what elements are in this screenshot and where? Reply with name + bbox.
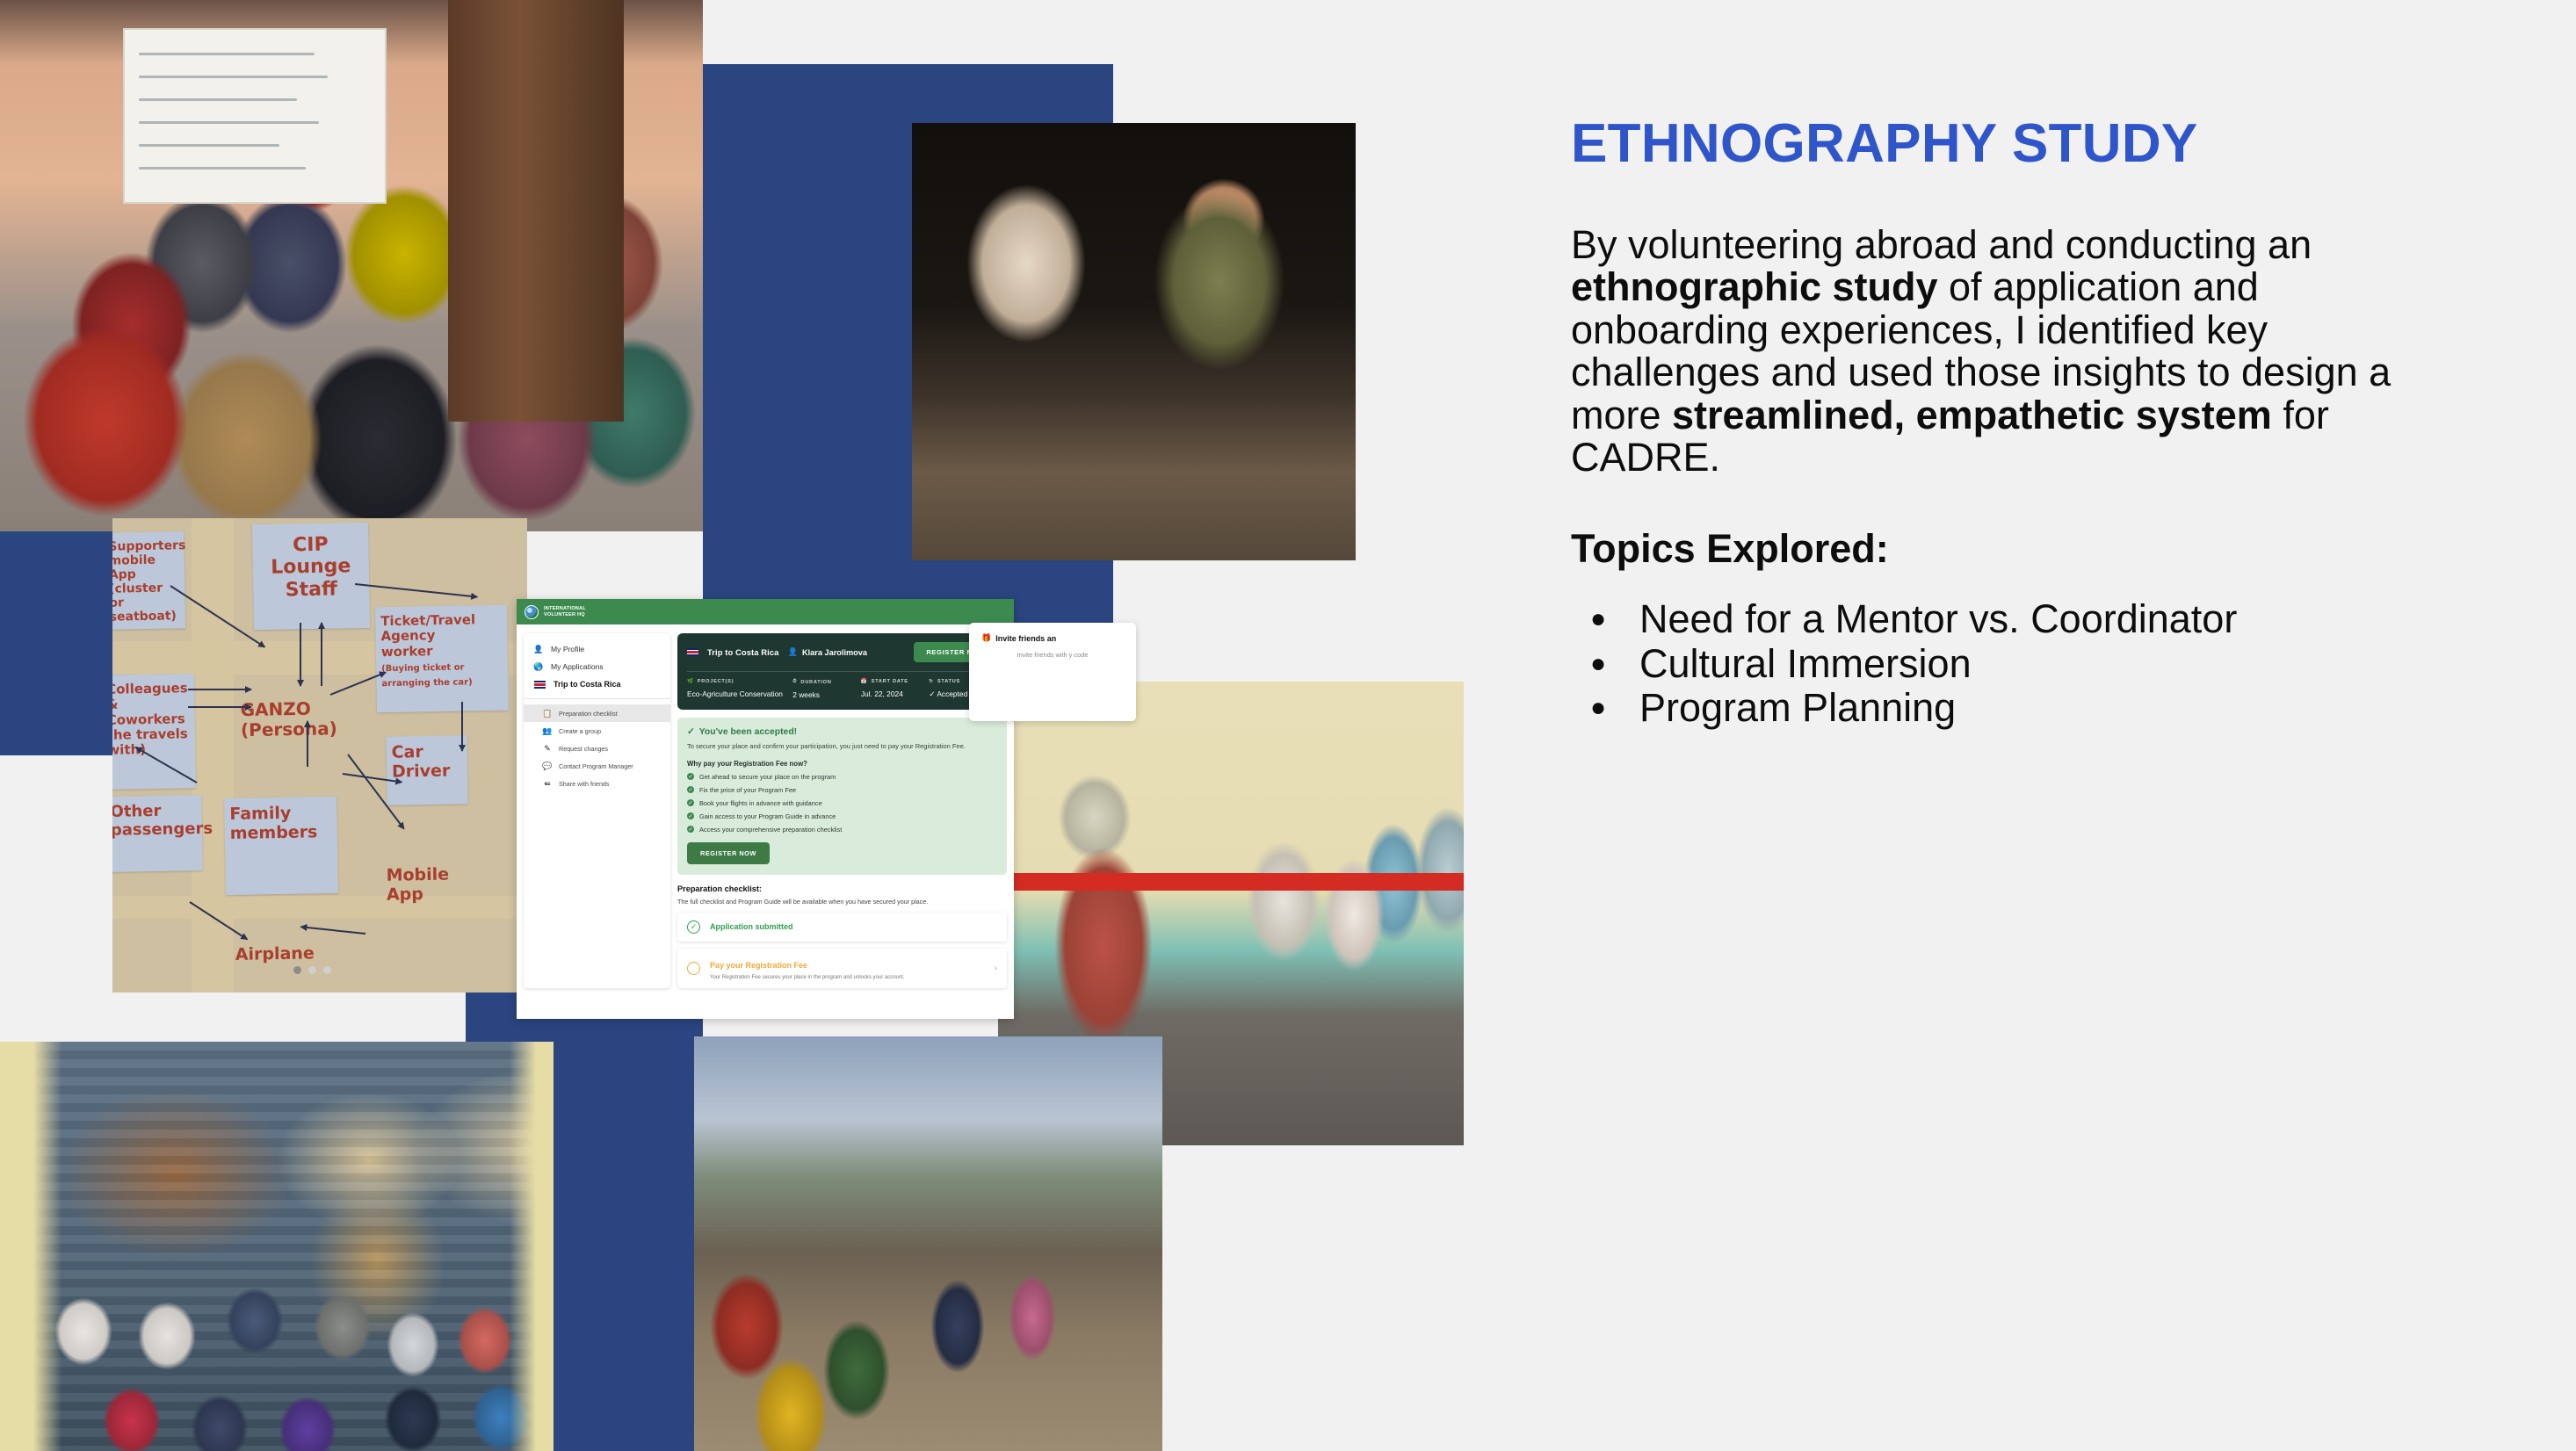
list-item: ● Cultural Immersion — [1571, 643, 2493, 685]
pencil-icon: ✎ — [543, 744, 552, 753]
sticky-note: MobileApp — [380, 858, 473, 934]
check-icon: ✓ — [687, 826, 694, 833]
mockup-sidebar: 👤 My Profile 🌎 My Applications Trip to C… — [524, 633, 670, 988]
checklist-item-application-submitted[interactable]: ✓ Application submitted — [677, 913, 1007, 942]
sticky-note: Colleagues&Coworkers(he travelswith) — [112, 674, 196, 790]
sidebar-item-label: Request changes — [559, 745, 608, 753]
text-column: ETHNOGRAPHY STUDY By volunteering abroad… — [1571, 0, 2493, 1451]
list-item-label: Cultural Immersion — [1639, 643, 2493, 685]
trip-title: Trip to Costa Rica — [707, 647, 779, 657]
list-item: ● Program Planning — [1571, 687, 2493, 729]
trip-field-start-date: 📅START DATE Jul. 22, 2024 — [861, 679, 930, 699]
check-circle-icon: ✓ — [687, 726, 695, 737]
group-icon: 👥 — [543, 726, 552, 735]
sticky-note: CIPLoungeStaff — [252, 523, 370, 630]
paragraph-bold-2: streamlined, empathetic system — [1672, 393, 2272, 437]
check-icon: ✓ — [687, 773, 694, 780]
topics-list: ● Need for a Mentor vs. Coordinator ● Cu… — [1571, 598, 2493, 729]
sidebar-item-label: My Applications — [551, 662, 604, 671]
checklist-item-subtitle: Your Registration Fee secures your place… — [710, 975, 905, 980]
sticky-note-stakeholder-map-photo: SupportersmobileApp(cluster orseatboat) … — [112, 518, 527, 993]
chevron-right-icon[interactable]: › — [995, 964, 997, 973]
trip-field-duration: ⏱DURATION 2 weeks — [792, 679, 861, 699]
calendar-icon: 📅 — [861, 679, 868, 684]
nepal-womens-group-photo — [0, 0, 703, 531]
description-paragraph: By volunteering abroad and conducting an… — [1571, 224, 2458, 479]
preparation-heading: Preparation checklist: — [677, 884, 1007, 893]
share-icon: ⇚ — [543, 779, 552, 788]
invite-heading: 🎁 Invite friends an — [981, 633, 1124, 643]
globe-icon: 🌎 — [534, 662, 543, 671]
refresh-icon: ↻ — [929, 679, 933, 684]
sidebar-item-preparation-checklist[interactable]: 📋 Preparation checklist — [524, 704, 670, 722]
benefit-item: ✓Book your flights in advance with guida… — [687, 799, 997, 807]
carousel-dots[interactable] — [293, 966, 331, 974]
costa-rica-flag-icon — [687, 648, 698, 656]
checklist-item-title: Pay your Registration Fee — [710, 961, 807, 970]
kenya-village-photo — [694, 1036, 1162, 1451]
sidebar-item-label: Preparation checklist — [559, 710, 618, 718]
mockup-main: Trip to Costa Rica 👤 Klara Jarolimova RE… — [677, 633, 1007, 988]
bullet-icon: ● — [1571, 643, 1639, 685]
costa-rica-flag-icon — [534, 681, 546, 689]
sidebar-item-contact-program-manager[interactable]: 💬 Contact Program Manager — [524, 757, 670, 775]
night-interview-photo — [912, 123, 1356, 560]
sidebar-item-label: My Profile — [551, 645, 584, 653]
benefit-item: ✓Gain access to your Program Guide in ad… — [687, 812, 997, 820]
sidebar-item-label: Share with friends — [559, 780, 610, 788]
invite-body: Invite friends with y code — [981, 650, 1124, 661]
check-icon: ✓ — [687, 799, 694, 806]
slide-root: SupportersmobileApp(cluster orseatboat) … — [0, 0, 2576, 1451]
benefit-item: ✓Fix the price of your Program Fee — [687, 786, 997, 794]
image-collage: SupportersmobileApp(cluster orseatboat) … — [0, 0, 1494, 1451]
sticky-note: GANZO(Persona) — [235, 691, 358, 763]
brand-name: INTERNATIONAL VOLUNTEER HQ — [544, 606, 586, 618]
sticky-note: Airplane — [229, 937, 336, 992]
world-map-wall-group-photo — [0, 1042, 554, 1451]
paragraph-bold-1: ethnographic study — [1571, 264, 1938, 309]
sidebar-item-my-applications[interactable]: 🌎 My Applications — [524, 658, 670, 675]
sidebar-item-trip-to-costa-rica[interactable]: Trip to Costa Rica — [524, 675, 670, 693]
sidebar-item-label: Contact Program Manager — [559, 762, 633, 770]
sidebar-item-label: Create a group — [559, 727, 601, 735]
mockup-header: INTERNATIONAL VOLUNTEER HQ — [517, 599, 1014, 624]
topics-heading: Topics Explored: — [1571, 526, 2493, 572]
preparation-subtext: The full checklist and Program Guide wil… — [677, 898, 1007, 906]
benefit-item: ✓Access your comprehensive preparation c… — [687, 826, 997, 834]
sticky-note: Otherpassengers — [112, 795, 203, 872]
sidebar-item-create-a-group[interactable]: 👥 Create a group — [524, 722, 670, 740]
bullet-icon: ● — [1571, 687, 1639, 729]
leaf-icon: 🌿 — [687, 679, 694, 684]
check-icon: ✓ — [687, 812, 694, 819]
list-item-label: Need for a Mentor vs. Coordinator — [1639, 598, 2493, 640]
paragraph-part-1: By volunteering abroad and conducting an — [1571, 222, 2312, 267]
sidebar-item-request-changes[interactable]: ✎ Request changes — [524, 740, 670, 757]
clipboard-icon: 📋 — [543, 709, 552, 718]
accepted-body: To secure your place and confirm your pa… — [687, 742, 997, 752]
benefit-item: ✓Get ahead to secure your place on the p… — [687, 773, 997, 781]
sidebar-item-my-profile[interactable]: 👤 My Profile — [524, 640, 670, 658]
trip-field-projects: 🌿PROJECT(S) Eco-Agriculture Conservation — [687, 679, 792, 699]
page-title: ETHNOGRAPHY STUDY — [1571, 112, 2493, 175]
circle-outline-icon — [687, 962, 700, 975]
sticky-note: SupportersmobileApp(cluster orseatboat) — [112, 531, 185, 630]
check-circle-icon: ✓ — [687, 920, 700, 934]
user-name: 👤 Klara Jarolimova — [788, 647, 868, 657]
globe-icon — [525, 605, 539, 619]
gift-icon: 🎁 — [981, 633, 991, 643]
sticky-note: Familymembers — [224, 797, 338, 895]
checklist-item-pay-registration-fee[interactable]: Pay your Registration Fee Your Registrat… — [677, 949, 1007, 988]
chat-icon: 💬 — [543, 762, 552, 770]
sticky-note: Ticket/TravelAgencyworker(Buying ticket … — [375, 605, 509, 713]
door-detail — [448, 0, 624, 422]
bullet-icon: ● — [1571, 598, 1639, 640]
person-icon: 👤 — [788, 647, 798, 657]
sidebar-item-share-with-friends[interactable]: ⇚ Share with friends — [524, 775, 670, 792]
clock-icon: ⏱ — [792, 679, 797, 685]
checklist-item-title: Application submitted — [710, 922, 793, 931]
list-item-label: Program Planning — [1639, 687, 2493, 729]
accepted-subheading: Why pay your Registration Fee now? — [687, 760, 997, 768]
sidebar-item-label: Trip to Costa Rica — [554, 680, 621, 689]
invite-friends-card[interactable]: 🎁 Invite friends an Invite friends with … — [969, 623, 1136, 721]
ivhq-app-mockup: INTERNATIONAL VOLUNTEER HQ 👤 My Profile … — [517, 599, 1014, 1019]
accepted-heading: ✓ You've been accepted! — [687, 726, 997, 737]
whiteboard-detail — [123, 28, 387, 204]
trip-summary-card: Trip to Costa Rica 👤 Klara Jarolimova RE… — [677, 633, 1007, 710]
sticky-note: CarDriver — [386, 735, 467, 805]
person-icon: 👤 — [534, 645, 543, 653]
register-now-button[interactable]: REGISTER NOW — [687, 842, 770, 864]
divider — [687, 671, 997, 672]
divider — [524, 698, 670, 699]
check-icon: ✓ — [929, 689, 935, 698]
accepted-panel: ✓ You've been accepted! To secure your p… — [677, 718, 1007, 875]
check-icon: ✓ — [687, 786, 694, 793]
list-item: ● Need for a Mentor vs. Coordinator — [1571, 598, 2493, 640]
